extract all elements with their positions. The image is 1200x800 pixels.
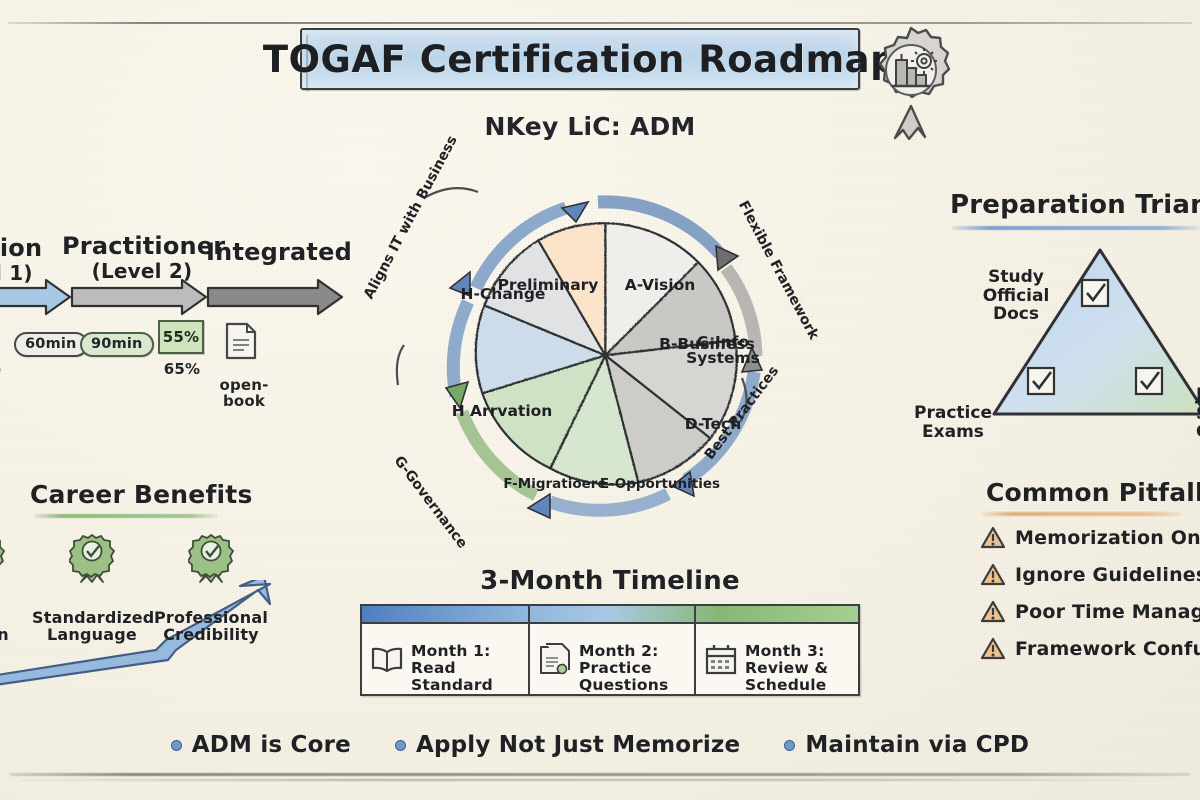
prep-corner-study-group: J S Gr [1196,368,1200,441]
career-benefit-label: Standardized Language [32,591,152,644]
bullet-dot-icon [784,740,795,751]
timeline-table: Month 1: Read Standard Month 2: Practice… [360,604,860,696]
footer-item: Maintain via CPD [784,732,1029,758]
top-rule-line [8,22,1192,24]
warning-triangle-icon [980,600,1006,624]
career-benefits-title: Career Benefits [30,480,253,509]
bullet-dot-icon [395,740,406,751]
pitfalls-title-underline [982,512,1182,516]
badge-60min: 60min [14,332,88,357]
pitfall-label: Poor Time Manageme [1015,601,1200,623]
pitfall-item: Poor Time Manageme [980,600,1200,624]
career-benefit-label: bal nition [0,591,30,644]
footer-takeaways: ADM is Core Apply Not Just Memorize Main… [0,732,1200,758]
ribbon-check-icon [69,532,115,584]
pitfall-label: Memorization Only [1015,527,1200,549]
badge-90min: 90min [80,332,154,357]
wheel-segment-f-migration: F-Migratioere [490,477,620,491]
calendar-icon [704,644,738,676]
adm-subtitle: NKey LiC: ADM [460,112,720,141]
career-benefits-section: Career Benefits bal nition Standardized … [0,480,340,690]
warning-triangle-icon [980,526,1006,550]
timeline-title: 3-Month Timeline [355,566,865,596]
warning-triangle-icon [980,637,1006,661]
footer-item: ADM is Core [171,732,351,758]
footer-label: ADM is Core [192,732,351,758]
footer-label: Apply Not Just Memorize [416,732,740,758]
wheel-segment-a-vision: A-Vision [612,277,708,293]
timeline-section: 3-Month Timeline Month 1: Read Standard … [355,566,865,696]
certification-path: ation el 1) Practitioner (Level 2) Integ… [0,236,342,406]
cert-path-arrows [0,278,346,320]
pitfall-item: Memorization Only [980,526,1200,550]
prep-title-underline [952,226,1200,230]
timeline-month-label: Month 3: Review & Schedule [745,625,828,694]
certification-seal-icon [862,20,960,140]
timeline-month-3: Month 3: Review & Schedule [696,626,860,694]
title-banner: TOGAF Certification Roadmap [300,28,860,90]
pitfall-label: Ignore Guidelines [1015,564,1200,586]
wheel-segment-h-change: H-Change [448,286,558,302]
practice-doc-icon [538,643,572,677]
wheel-segment-c-info-systems-text: C-Info Systems [686,333,760,367]
timeline-month-label: Month 2: Practice Questions [579,625,668,694]
warning-triangle-icon [980,563,1006,587]
preparation-triangle-section: Preparation Triangle Study Official Docs… [950,190,1200,440]
timeline-progress-bar [362,606,858,624]
career-title-underline [34,514,218,518]
prep-triangle-title: Preparation Triangle [950,190,1200,220]
pass-mark-caption: 65% [154,362,210,378]
timeline-month-label: Month 1: Read Standard [411,625,493,694]
ribbon-check-icon [188,532,234,584]
career-benefit-item: bal nition [0,532,30,644]
bottom-rule-line [10,773,1190,776]
pitfall-item: Ignore Guidelines [980,563,1200,587]
prep-corner-study-docs: Study Official Docs [972,250,1060,323]
pitfall-label: Framework Confusion [1015,638,1200,660]
footer-item: Apply Not Just Memorize [395,732,740,758]
bullet-dot-icon [171,740,182,751]
timeline-month-1: Month 1: Read Standard [362,626,528,694]
open-book-doc-icon [222,320,260,362]
footer-label: Maintain via CPD [805,732,1029,758]
open-book-icon [370,645,404,675]
career-benefit-label: Professional Credibility [150,591,272,644]
wheel-segment-c-info-systems: C-Info Systems [678,334,768,367]
career-benefit-item: Standardized Language [32,532,152,644]
cert-level-3-name: Integrated [204,240,354,264]
wheel-segment-g-implementation: H Arrvation [442,403,562,419]
badge-pass-mark-note: 55% [158,320,204,354]
timeline-month-2: Month 2: Practice Questions [530,626,694,694]
pitfalls-title: Common Pitfalls [986,478,1200,507]
prep-corner-practice-exams: Practice Exams [908,386,998,441]
adm-cycle-wheel: Preliminary A-Vision B-Business C-Info S… [390,150,820,550]
ribbon-check-icon [0,532,5,584]
common-pitfalls-section: Common Pitfalls Memorization Only Ignore… [980,478,1200,688]
open-book-caption: open- book [210,362,278,409]
bottom-rule-line-secondary [20,779,1160,781]
page-title: TOGAF Certification Roadmap [263,38,897,81]
cert-level-2-name: Practitioner (Level 2) [62,234,222,283]
pitfall-item: Framework Confusion [980,637,1200,661]
career-benefit-item: Professional Credibility [150,532,272,644]
